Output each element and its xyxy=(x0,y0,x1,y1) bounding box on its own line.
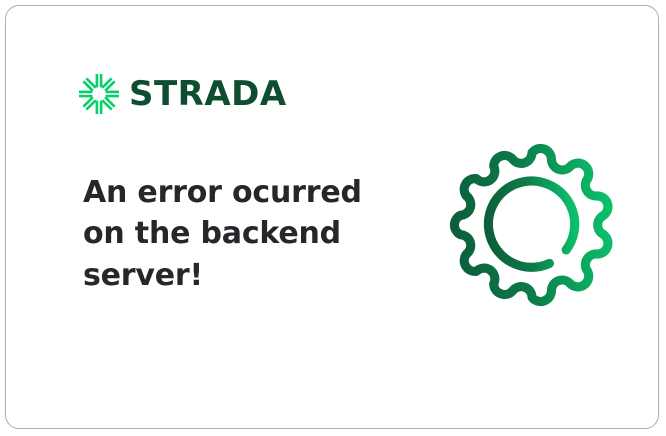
error-message: An error ocurred on the backend server! xyxy=(83,172,373,296)
gear-spinner-icon xyxy=(449,142,615,308)
error-card: STRADA An error ocurred on the backend s… xyxy=(5,5,659,429)
brand-wordmark: STRADA xyxy=(129,77,287,111)
strada-asterisk-icon xyxy=(79,74,119,114)
brand-logo: STRADA xyxy=(79,74,287,114)
